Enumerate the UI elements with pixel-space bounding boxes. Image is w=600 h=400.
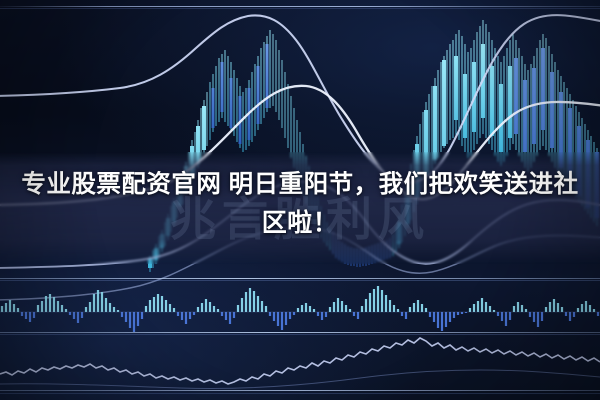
top-divider-shadow [0, 8, 600, 9]
indicator-line [0, 338, 600, 384]
panel-divider-2-shadow [0, 334, 600, 335]
indicator-line-secondary [0, 370, 600, 389]
bottom-divider-shadow [0, 393, 600, 394]
headline-text: 专业股票配资官网 明日重阳节，我们把欢笑送进社 区啦！ [0, 166, 600, 242]
headline-line-2: 区啦！ [4, 204, 596, 242]
headline-line-1: 专业股票配资官网 明日重阳节，我们把欢笑送进社 [4, 166, 596, 204]
top-divider [0, 6, 600, 7]
panel-divider-1 [0, 278, 600, 279]
bottom-divider [0, 390, 600, 391]
panel-divider-1-shadow [0, 280, 600, 281]
panel-divider-2 [0, 332, 600, 333]
stock-chart-banner: 兆言胜利风 专业股票配资官网 明日重阳节，我们把欢笑送进社 区啦！ [0, 0, 600, 400]
